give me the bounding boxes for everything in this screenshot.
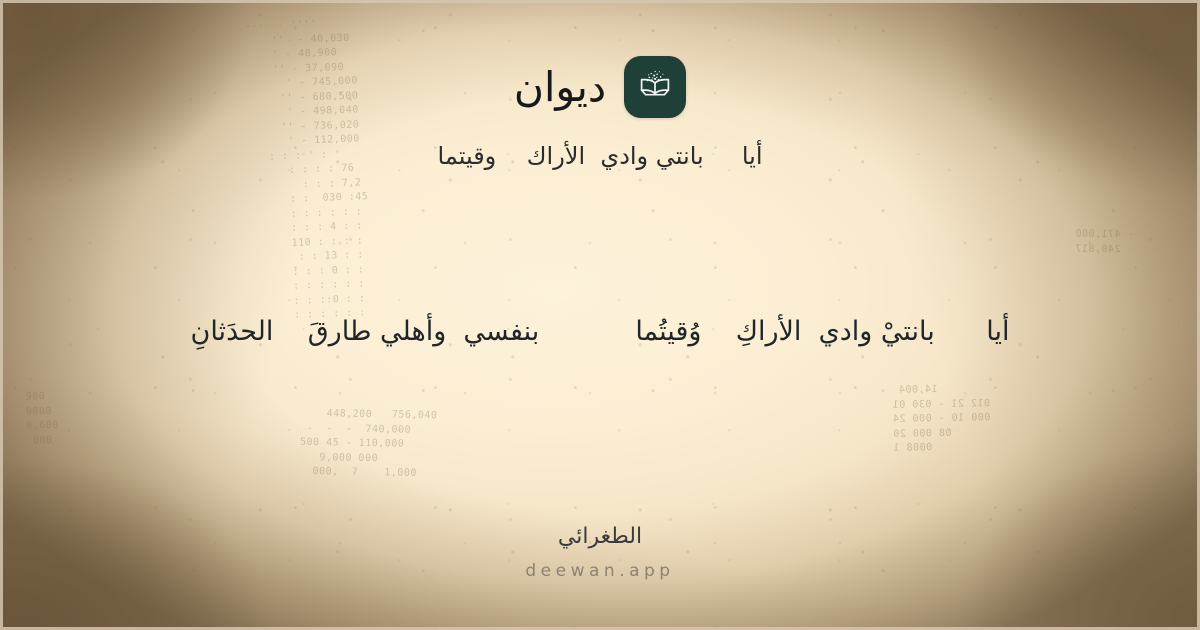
card-footer: الطغرائي deewan.app [0, 523, 1200, 582]
hemistich-right: أيا بانتيْ وادي الأراكِ وُقيتُما [635, 312, 1009, 353]
brand-lockup: ديوان [514, 56, 686, 118]
verse-line: أيا بانتيْ وادي الأراكِ وُقيتُما بنفسي و… [0, 312, 1200, 353]
poem-title: أيا بانتي وادي الأراك وقيتما [438, 140, 763, 172]
poetry-share-card: '''' - --- 40,030 - '' 48,900 - ' 37,090… [0, 0, 1200, 630]
hemistich-left: بنفسي وأهلي طارقَ الحدَثانِ [191, 312, 540, 353]
app-name: ديوان [514, 67, 606, 108]
site-url: deewan.app [0, 560, 1200, 582]
open-book-sparkles-icon [624, 56, 686, 118]
card-content: ديوان أيا بانتي وادي الأراك وقيتما أيا ب… [0, 0, 1200, 630]
poem-author: الطغرائي [0, 523, 1200, 552]
